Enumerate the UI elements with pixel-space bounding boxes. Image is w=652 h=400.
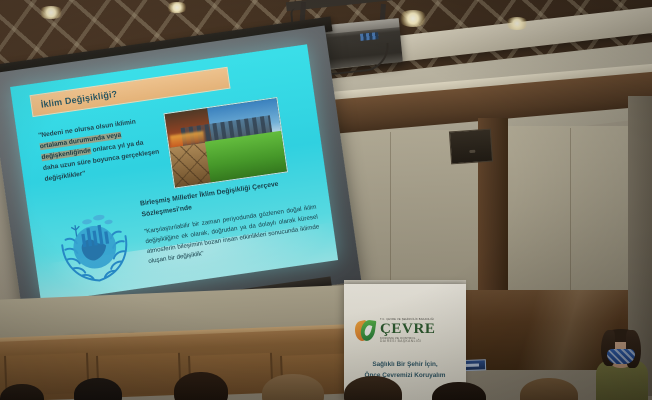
wall-panel-seam bbox=[570, 128, 571, 300]
ceiling-light bbox=[398, 10, 428, 27]
ceiling-light bbox=[38, 6, 64, 19]
masked-attendee bbox=[596, 330, 648, 400]
presentation-slide: İklim Değişikliği? "Nedeni ne olursa ols… bbox=[10, 44, 338, 303]
banner-slogan-line1: Sağlıklı Bir Şehir İçin, bbox=[344, 360, 466, 371]
ceiling-light bbox=[505, 17, 529, 30]
slide-title: İklim Değişikliği? bbox=[31, 89, 118, 111]
wall-speaker bbox=[449, 129, 493, 165]
banner-logo-row: T.C. ÇEVRE VE ŞEHİRCİLİK BAKANLIĞI ÇEVRE… bbox=[355, 318, 457, 344]
banner-brand-block: T.C. ÇEVRE VE ŞEHİRCİLİK BAKANLIĞI ÇEVRE… bbox=[380, 319, 436, 343]
un-climate-emblem bbox=[48, 199, 141, 292]
wall-panel-seam bbox=[390, 132, 391, 302]
banner-brand-name: ÇEVRE bbox=[380, 322, 436, 337]
climate-contrast-photo bbox=[163, 97, 288, 189]
projector-status-led bbox=[360, 32, 379, 41]
leaf-flame-icon bbox=[355, 319, 376, 343]
ceiling-light bbox=[166, 2, 188, 13]
un-emblem-icon bbox=[48, 199, 141, 292]
slide-left-quote: "Nedeni ne olursa olsun iklimin ortalama… bbox=[38, 114, 165, 185]
conference-hall-photo: İklim Değişikliği? "Nedeni ne olursa ols… bbox=[0, 0, 652, 400]
face-mask bbox=[607, 349, 635, 364]
banner-department-line2: DAİRESİ BAŞKANLIĞI bbox=[380, 340, 436, 343]
